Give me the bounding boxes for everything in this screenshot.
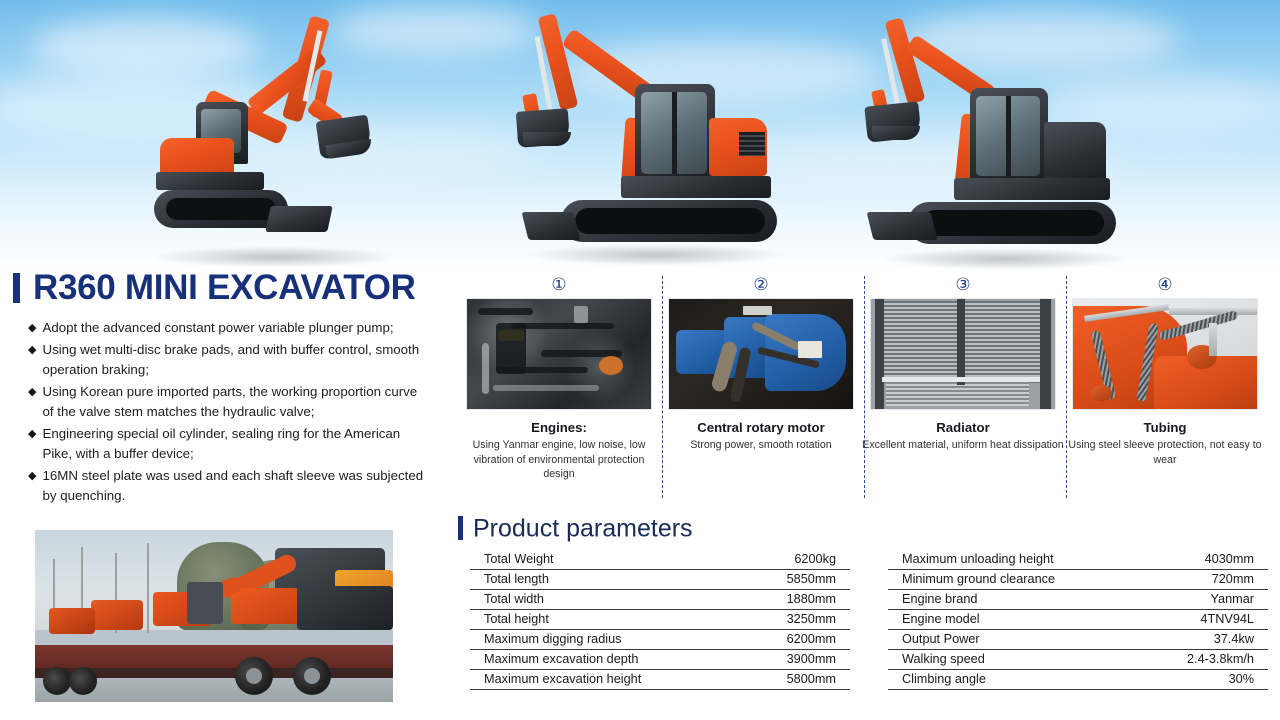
param-key: Minimum ground clearance xyxy=(902,572,1055,586)
product-parameters-heading-text: Product parameters xyxy=(473,514,693,542)
param-key: Maximum excavation height xyxy=(484,672,641,686)
radiator-photo xyxy=(870,298,1056,410)
table-row: Output Power 37.4kw xyxy=(888,630,1268,650)
wheel-hub xyxy=(304,668,320,684)
table-row: Maximum unloading height 4030mm xyxy=(888,550,1268,570)
diamond-bullet-icon: ◆ xyxy=(28,318,36,338)
highlight-desc-3: Excellent material, uniform heat dissipa… xyxy=(862,438,1064,453)
tubing-photo-content xyxy=(1073,299,1257,409)
highlight-columns: ① Engines: Using Yanmar engine, low xyxy=(458,272,1276,504)
table-row: Total width 1880mm xyxy=(470,590,850,610)
wheel-hub xyxy=(246,668,262,684)
param-key: Engine brand xyxy=(902,592,977,606)
tubing-photo xyxy=(1072,298,1258,410)
param-value: 4TNV94L xyxy=(1200,612,1254,626)
list-item: ◆ Using wet multi-disc brake pads, and w… xyxy=(28,340,428,381)
table-row: Climbing angle 30% xyxy=(888,670,1268,690)
param-key: Maximum unloading height xyxy=(902,552,1054,566)
highlight-number-2: ② xyxy=(660,272,862,298)
highlight-title-1: Engines: xyxy=(458,419,660,436)
hero-excavator-left-image xyxy=(140,10,420,270)
engine-photo xyxy=(466,298,652,410)
loaded-excavator xyxy=(91,600,143,630)
param-key: Total Weight xyxy=(484,552,554,566)
table-row: Maximum excavation depth 3900mm xyxy=(470,650,850,670)
page-title: R360 MINI EXCAVATOR xyxy=(13,268,416,306)
param-value: 37.4kw xyxy=(1214,632,1254,646)
table-row: Minimum ground clearance 720mm xyxy=(888,570,1268,590)
table-row: Engine model 4TNV94L xyxy=(888,610,1268,630)
param-value: 30% xyxy=(1229,672,1254,686)
highlight-title-4: Tubing xyxy=(1064,419,1266,436)
highlight-desc-1: Using Yanmar engine, low noise, low vibr… xyxy=(458,438,660,482)
diamond-bullet-icon: ◆ xyxy=(28,466,36,486)
highlight-caption-4: Tubing Using steel sleeve protection, no… xyxy=(1064,419,1266,467)
highlight-column-engines: ① Engines: Using Yanmar engine, low xyxy=(458,272,660,482)
list-item: ◆ Adopt the advanced constant power vari… xyxy=(28,318,428,339)
truck-wheel xyxy=(69,667,97,695)
feature-text: Adopt the advanced constant power variab… xyxy=(42,318,393,339)
highlight-column-tubing: ④ Tubing Using steel sleeve protect xyxy=(1064,272,1266,467)
param-value: Yanmar xyxy=(1211,592,1254,606)
param-key: Engine model xyxy=(902,612,980,626)
param-key: Total length xyxy=(484,572,549,586)
param-key: Output Power xyxy=(902,632,980,646)
param-value: 3900mm xyxy=(787,652,836,666)
product-parameters-heading: Product parameters xyxy=(458,512,693,543)
highlight-caption-2: Central rotary motor Strong power, smoot… xyxy=(660,419,862,453)
param-value: 3250mm xyxy=(787,612,836,626)
truck-wheel xyxy=(293,657,331,695)
list-item: ◆ Engineering special oil cylinder, seal… xyxy=(28,424,428,465)
loaded-excavator xyxy=(297,586,393,630)
param-value: 720mm xyxy=(1212,572,1254,586)
delivery-truck-photo xyxy=(35,530,393,702)
feature-text: Using wet multi-disc brake pads, and wit… xyxy=(42,340,428,381)
param-value: 5850mm xyxy=(787,572,836,586)
loaded-excavator xyxy=(187,582,223,624)
loaded-excavator xyxy=(231,588,301,624)
radiator-photo-content xyxy=(871,299,1055,409)
highlight-title-2: Central rotary motor xyxy=(660,419,862,436)
feature-bullet-list: ◆ Adopt the advanced constant power vari… xyxy=(28,318,428,508)
table-row: Maximum digging radius 6200mm xyxy=(470,630,850,650)
param-key: Maximum excavation depth xyxy=(484,652,638,666)
highlight-caption-1: Engines: Using Yanmar engine, low noise,… xyxy=(458,419,660,482)
highlight-title-3: Radiator xyxy=(862,419,1064,436)
diamond-bullet-icon: ◆ xyxy=(28,382,36,402)
table-row: Maximum excavation height 5800mm xyxy=(470,670,850,690)
highlight-desc-4: Using steel sleeve protection, not easy … xyxy=(1064,438,1266,467)
list-item: ◆ 16MN steel plate was used and each sha… xyxy=(28,466,428,507)
table-row: Total Weight 6200kg xyxy=(470,550,850,570)
param-value: 1880mm xyxy=(787,592,836,606)
param-value: 4030mm xyxy=(1205,552,1254,566)
truck-wheel xyxy=(235,657,273,695)
highlight-column-rotary-motor: ② Central rotary motor Strong power, smo… xyxy=(660,272,862,453)
rotary-motor-photo xyxy=(668,298,854,410)
loaded-excavator xyxy=(49,608,95,634)
highlight-number-4: ④ xyxy=(1064,272,1266,298)
title-accent-bar xyxy=(13,273,20,303)
rotary-motor-photo-content xyxy=(669,299,853,409)
page-title-text: R360 MINI EXCAVATOR xyxy=(33,268,416,307)
truck-wheel xyxy=(43,667,71,695)
table-row: Engine brand Yanmar xyxy=(888,590,1268,610)
table-row: Walking speed 2.4-3.8km/h xyxy=(888,650,1268,670)
table-row: Total height 3250mm xyxy=(470,610,850,630)
feature-text: Engineering special oil cylinder, sealin… xyxy=(42,424,428,465)
param-key: Walking speed xyxy=(902,652,985,666)
product-brochure-page: R360 MINI EXCAVATOR ◆ Adopt the advanced… xyxy=(0,0,1280,720)
tree-shape xyxy=(147,543,149,633)
param-value: 6200kg xyxy=(794,552,836,566)
param-key: Total height xyxy=(484,612,549,626)
diamond-bullet-icon: ◆ xyxy=(28,340,36,360)
feature-text: 16MN steel plate was used and each shaft… xyxy=(42,466,428,507)
param-value: 5800mm xyxy=(787,672,836,686)
diamond-bullet-icon: ◆ xyxy=(28,424,36,444)
parameters-table-right: Maximum unloading height 4030mm Minimum … xyxy=(888,550,1268,690)
feature-text: Using Korean pure imported parts, the wo… xyxy=(42,382,428,423)
highlight-caption-3: Radiator Excellent material, uniform hea… xyxy=(862,419,1064,453)
heading-accent-bar xyxy=(458,516,463,540)
param-value: 6200mm xyxy=(787,632,836,646)
list-item: ◆ Using Korean pure imported parts, the … xyxy=(28,382,428,423)
param-key: Total width xyxy=(484,592,544,606)
highlight-desc-2: Strong power, smooth rotation xyxy=(660,438,862,453)
hero-excavator-right-image xyxy=(862,14,1152,270)
param-key: Climbing angle xyxy=(902,672,986,686)
engine-photo-content xyxy=(467,299,651,409)
param-value: 2.4-3.8km/h xyxy=(1187,652,1254,666)
hero-excavator-center-image xyxy=(505,6,805,268)
highlight-number-1: ① xyxy=(458,272,660,298)
highlight-number-3: ③ xyxy=(862,272,1064,298)
table-row: Total length 5850mm xyxy=(470,570,850,590)
param-key: Maximum digging radius xyxy=(484,632,622,646)
highlight-column-radiator: ③ Radiator Excellent material, uniform h… xyxy=(862,272,1064,453)
parameters-table-left: Total Weight 6200kg Total length 5850mm … xyxy=(470,550,850,690)
